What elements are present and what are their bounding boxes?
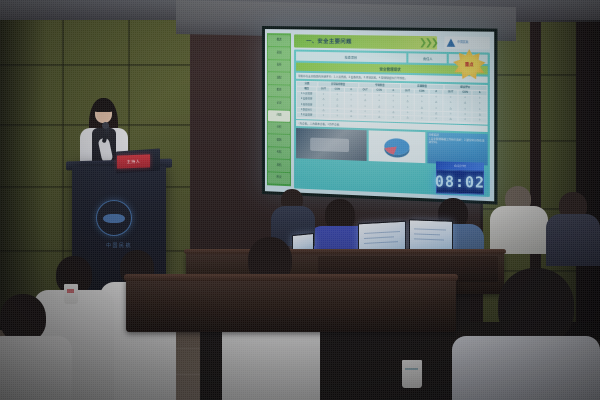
slide-logo: 中国民航 [445, 36, 490, 49]
slide-title-bar: 一、安全主要问题 [294, 34, 437, 49]
sidebar-item-5: 记录 [268, 97, 290, 109]
sub-2: CON [331, 87, 344, 92]
sidebar-item-8: 措施 [268, 135, 290, 147]
cell: ○ [444, 95, 457, 100]
cell: ○ [331, 114, 344, 119]
cell: ○ [373, 94, 386, 99]
cell: ○ [429, 95, 442, 100]
cell: ○ [359, 104, 372, 109]
torso [0, 336, 72, 400]
cell: △ [387, 110, 400, 115]
cell: ○ [458, 117, 471, 122]
cell: △ [317, 108, 330, 113]
sidebar-item-6-active: 问题 [268, 110, 290, 122]
header-cell-0: 检查项目 [296, 52, 407, 63]
clock-time: 08:02 [435, 172, 485, 191]
microphone-head [102, 122, 109, 129]
head [498, 268, 574, 344]
torso [490, 206, 548, 254]
cell: ○ [444, 101, 457, 106]
sub-8: CON [415, 89, 428, 94]
cell: △ [401, 100, 414, 105]
logo-triangle-icon [447, 38, 456, 46]
cup-marking [67, 289, 74, 293]
row-label: 5.应急管理 [297, 113, 316, 118]
cell: ○ [473, 96, 487, 101]
cell: ○ [317, 113, 330, 118]
cell: ○ [458, 96, 471, 101]
sidebar-item-9: 考核 [268, 147, 290, 159]
chevron-right-icon: ❯❯❯ [419, 37, 437, 49]
cell: ○ [373, 110, 386, 115]
cell: △ [331, 103, 344, 108]
cell: ○ [345, 98, 358, 103]
airline-wings-emblem-icon [96, 200, 132, 236]
sub-9: A [429, 90, 442, 95]
cell: ○ [415, 111, 428, 116]
sub-11: CON [458, 90, 471, 95]
cell: ○ [317, 103, 330, 108]
sidebar-item-11: 附录 [268, 172, 290, 184]
cell: △ [444, 117, 457, 122]
cell: △ [345, 114, 358, 119]
cell: △ [345, 109, 358, 114]
pie-graphic [384, 138, 409, 155]
cell: ○ [473, 107, 487, 112]
speaker-hair-front [93, 100, 114, 112]
cell: ○ [429, 117, 442, 122]
sub-10: OUT [444, 90, 457, 95]
cell: ○ [444, 112, 457, 117]
cell: ○ [387, 94, 400, 99]
slide-data-table: 分类 日常监控检查 专项检查 定期检查 综合评价 项目 OUT CON A OU… [296, 80, 488, 124]
slide-title: 一、安全主要问题 [294, 37, 352, 45]
cell: ○ [415, 100, 428, 105]
sub-5: CON [373, 88, 386, 93]
cell: ○ [473, 102, 487, 107]
cell: ○ [458, 112, 471, 117]
cell: ○ [359, 109, 372, 114]
cell: ○ [359, 93, 372, 98]
header-cell-1: 责任人 [409, 53, 447, 63]
cell: ○ [331, 108, 344, 113]
cell: △ [331, 98, 344, 103]
cell: △ [401, 116, 414, 121]
sidebar-item-4: 检查 [268, 85, 290, 97]
slide-photo [296, 128, 367, 161]
cell: ○ [359, 114, 372, 119]
sidebar-item-2: 责任 [268, 60, 290, 72]
auditorium-photo: 概述 范围 责任 流程 检查 记录 问题 分析 措施 考核 总结 附录 一、安全… [0, 0, 600, 400]
cell: △ [373, 104, 386, 109]
sidebar-item-1: 范围 [268, 48, 290, 60]
cell: ○ [458, 107, 471, 112]
led-countdown-clock: 08:02 [436, 169, 484, 194]
head [0, 294, 46, 342]
cell: ○ [387, 99, 400, 104]
logo-text: 中国民航 [457, 41, 468, 44]
emblem-wing-shape [103, 214, 125, 223]
torso [452, 336, 600, 400]
bench-row-front [126, 278, 456, 332]
podium-org-text: 中国民航 [72, 242, 166, 249]
cell: △ [444, 106, 457, 111]
sub-4: OUT [359, 88, 372, 93]
cell: ○ [317, 92, 330, 97]
cell: △ [429, 100, 442, 105]
cup-marking [405, 368, 418, 370]
cell: △ [359, 99, 372, 104]
cell: ○ [331, 93, 344, 98]
sub-12: A [473, 91, 487, 96]
cell: ○ [401, 105, 414, 110]
sub-7: OUT [401, 89, 414, 94]
cell: ○ [473, 118, 487, 123]
cell: ○ [415, 116, 428, 121]
sub-1: OUT [317, 87, 330, 92]
sub-3: A [345, 88, 358, 93]
sidebar-item-10: 总结 [268, 159, 290, 171]
podium-nameplate: 主持人 [117, 154, 150, 168]
left-shadow [0, 20, 46, 330]
cell: ○ [387, 115, 400, 120]
slide-media-row: 分析结论 1.安全管理基础工作执行良好；2.部分环节存在改进空间。 [296, 128, 488, 165]
cell: △ [429, 111, 442, 116]
bench-top-front [124, 274, 458, 281]
laptop-screen [409, 219, 453, 253]
conclusion-text: 1.安全管理基础工作执行良好；2.部分环节存在改进空间。 [429, 137, 486, 145]
cell: ○ [415, 95, 428, 100]
sidebar-item-7: 分析 [268, 122, 290, 134]
cell: △ [373, 115, 386, 120]
cell: ○ [373, 99, 386, 104]
cell: △ [415, 105, 428, 110]
slide-pie-chart [369, 130, 425, 163]
cell: ○ [401, 94, 414, 99]
sidebar-item-3: 流程 [268, 72, 290, 84]
paper-cup-1 [64, 284, 78, 304]
sub-6: A [387, 89, 400, 94]
cell: ○ [429, 106, 442, 111]
sidebar-item-0: 概述 [268, 35, 290, 47]
bench-top-middle [184, 249, 506, 254]
cell: ○ [387, 105, 400, 110]
cell: △ [473, 112, 487, 117]
cell: △ [458, 101, 471, 106]
torso [546, 214, 600, 266]
cell: ○ [345, 93, 358, 98]
slide-sidebar: 概述 范围 责任 流程 检查 记录 问题 分析 措施 考核 总结 附录 [267, 33, 291, 186]
cell: ○ [345, 104, 358, 109]
paper-cup-2 [402, 360, 422, 388]
cell: ○ [401, 110, 414, 115]
cell: △ [317, 98, 330, 103]
